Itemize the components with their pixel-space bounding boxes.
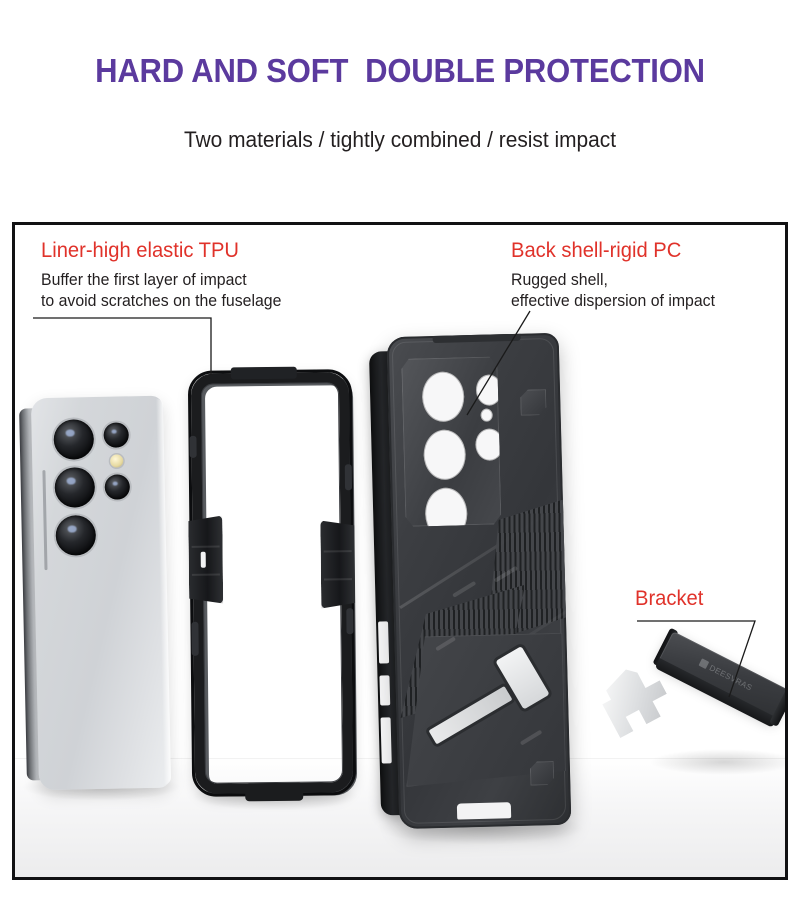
shell-rail-cutout-c	[381, 717, 392, 763]
liner-side-slot	[201, 552, 206, 568]
liner-rail-detail-top	[189, 436, 196, 458]
camera-lens-tele	[103, 422, 129, 448]
liner-bottom-tab	[245, 783, 303, 802]
tpu-liner-frame	[191, 372, 353, 794]
camera-cutout-wide	[423, 429, 466, 480]
shell-rail-cutout-a	[378, 621, 389, 663]
camera-lens-depth	[105, 474, 131, 500]
callout-tpu-heading: Liner-high elastic TPU	[41, 239, 281, 263]
camera-cutout-flash	[480, 409, 492, 422]
pc-back-shell	[381, 333, 572, 829]
liner-button-cutout-volume	[345, 464, 352, 490]
phone-antenna-band	[42, 470, 47, 570]
shell-back-face	[387, 333, 572, 829]
smartphone-device	[19, 395, 175, 790]
camera-flash-icon	[110, 454, 123, 467]
shell-camera-island	[401, 356, 501, 526]
callout-bracket: Bracket	[635, 587, 706, 611]
callout-pc-heading: Back shell-rigid PC	[511, 239, 715, 263]
callout-tpu-body: Buffer the first layer of impact to avoi…	[41, 270, 281, 312]
infographic-page: HARD AND SOFT DOUBLE PROTECTION Two mate…	[0, 0, 800, 901]
product-diagram-panel: DEESVRAS Liner-high elastic TPU Buffer t…	[12, 222, 788, 880]
page-title: HARD AND SOFT DOUBLE PROTECTION	[24, 52, 776, 90]
kickstand-plate: DEESVRAS	[655, 631, 788, 727]
camera-lens-wide	[54, 467, 95, 508]
phone-back-body	[31, 396, 171, 791]
shell-rail-cutout-b	[379, 675, 390, 705]
liner-grip-right	[320, 520, 355, 608]
liner-button-cutout-power	[346, 608, 353, 634]
camera-lens-ultrawide	[55, 515, 96, 556]
leader-line-tpu	[33, 318, 211, 375]
liner-rail-detail-bottom	[191, 622, 198, 656]
liner-top-tab	[230, 367, 296, 380]
page-subtitle: Two materials / tightly combined / resis…	[20, 127, 780, 153]
camera-lens-main	[53, 419, 94, 460]
callout-pc-body: Rugged shell, effective dispersion of im…	[511, 270, 715, 312]
camera-cutout-main	[422, 371, 465, 422]
shell-bottom-port-cutout	[457, 802, 511, 819]
callout-pc: Back shell-rigid PC Rugged shell, effect…	[511, 239, 723, 312]
callout-tpu: Liner-high elastic TPU Buffer the first …	[41, 239, 291, 312]
callout-bracket-heading: Bracket	[635, 587, 703, 611]
